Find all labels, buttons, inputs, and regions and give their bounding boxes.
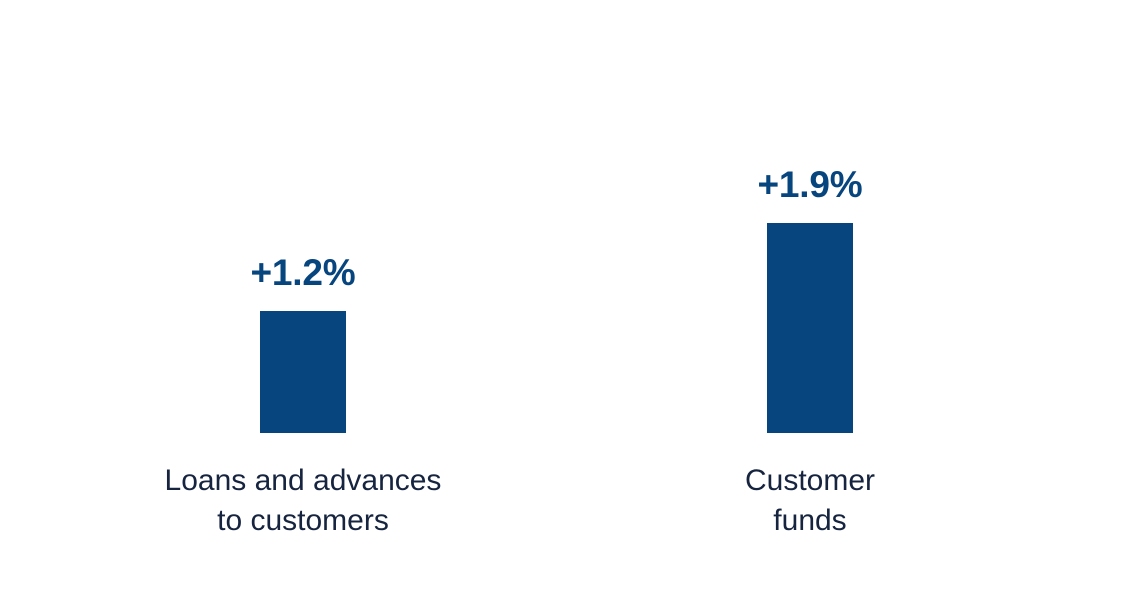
bar-stack: +1.9%: [640, 166, 980, 433]
bar-group-customer-funds: +1.9% Customer funds: [640, 0, 980, 594]
bar-group-loans-and-advances: +1.2% Loans and advances to customers: [133, 0, 473, 594]
bar-value-label: +1.2%: [251, 254, 356, 291]
bar-category-label: Loans and advances to customers: [133, 461, 473, 541]
bar-column[interactable]: [260, 311, 346, 433]
bar-chart: +1.2% Loans and advances to customers +1…: [0, 0, 1147, 594]
bar-category-label: Customer funds: [640, 461, 980, 541]
bar-value-label: +1.9%: [758, 166, 863, 203]
bar-stack: +1.2%: [133, 254, 473, 433]
bar-column[interactable]: [767, 223, 853, 433]
